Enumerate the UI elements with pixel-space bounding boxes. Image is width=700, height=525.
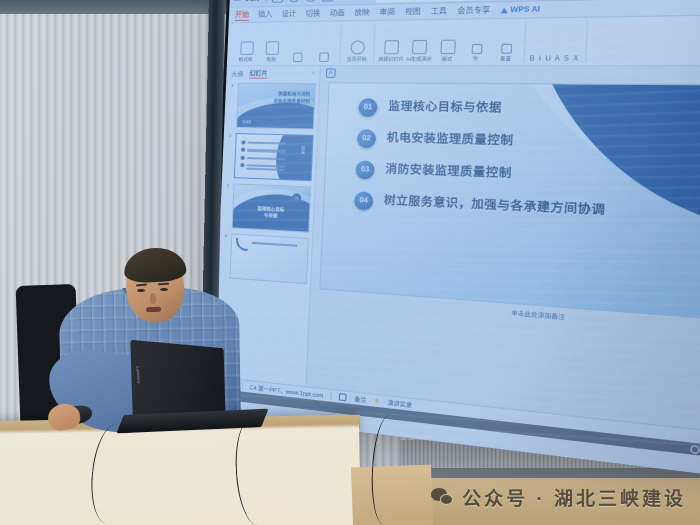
reset-button[interactable]: 重置 [492,44,519,63]
spacer [551,5,700,9]
wps-ai-label: WPS AI [510,5,540,13]
agenda-list: 01 监理核心目标与依据 02 机电安装监理质量控制 03 消防安装监理质量控制 [324,83,700,231]
button-caption: AI生成演示 [406,56,432,63]
format-brush-icon [240,41,254,54]
menu-icon[interactable] [234,0,241,1]
divider [266,0,268,2]
tab-slideshow[interactable]: 放映 [354,7,370,18]
thumbnail-number: 1 [229,83,236,88]
layout-button[interactable]: 版式 [434,40,460,63]
agenda-item[interactable]: 02 机电安装监理质量控制 [357,129,700,159]
bullet-icon [241,140,245,144]
wechat-icon [431,488,454,507]
layout-icon [440,40,456,54]
search-icon[interactable] [690,444,700,453]
tab-design[interactable]: 设计 [281,9,296,20]
ai-generate-icon [411,40,426,54]
thumb-side-label: 目录 [301,146,307,154]
active-slide[interactable]: 01 监理核心目标与依据 02 机电安装监理质量控制 03 消防安装监理质量控制 [319,82,700,325]
paste-icon [265,41,279,55]
slide-thumbnail-3[interactable]: 01 监理核心目标 与依据 [232,183,312,232]
tab-outline[interactable]: 大纲 [231,69,243,78]
notes-button-label[interactable]: 备注 [354,394,366,404]
display-bezel: 文件 ↶ ↷ ⌄ 房建机电安装监理质量控制… ✕ + [209,0,700,486]
file-menu-label[interactable]: 文件 [246,0,262,3]
thumb-agenda-row [240,163,285,169]
bullet-icon [241,156,245,160]
section-button[interactable]: 节 [463,44,490,63]
button-caption: 当页开始 [346,56,366,63]
eye-right [160,288,168,291]
laptop-brand-logo: Lenovo [136,366,142,384]
watermark-text: 公众号 · 湖北三峡建设 [462,484,686,511]
divider [241,382,242,389]
divider [331,392,332,400]
tab-view[interactable]: 视图 [405,6,421,17]
slide-canvas-area: A 01 监理核心目标与依据 02 机 [306,66,700,440]
mouth [146,307,161,313]
decorative-shape [236,238,249,251]
list-item[interactable]: 4 [221,233,309,284]
agenda-number-badge: 02 [357,129,376,148]
slide-thumbnail-2[interactable]: 目录 [234,133,314,181]
wps-ai-button[interactable]: WPS AI [501,5,541,14]
watermark: 公众号 · 湖北三峡建设 [431,484,686,511]
slide-thumbnail-4[interactable] [229,233,309,284]
thumbnail-number: 4 [222,233,229,239]
thumb-agenda-row [241,140,286,145]
ai-sparkle-icon [501,7,508,13]
play-from-current-slide-button[interactable]: 当页开始 [345,40,370,63]
new-slide-icon [384,40,399,54]
thumb-agenda-row [241,148,286,153]
chevron-left-icon[interactable]: ‹ [312,70,314,76]
agenda-number-badge: 01 [358,98,377,117]
save-icon[interactable] [272,0,284,2]
wps-logo-icon: A [326,68,336,78]
print-icon[interactable] [305,0,317,2]
search-icon[interactable] [288,0,300,2]
paste-button[interactable]: 粘贴 [260,41,283,63]
scissors-icon [292,53,302,62]
thumbnail-number: 2 [227,133,234,138]
agenda-item-text: 机电安装监理质量控制 [387,130,514,149]
reset-icon [500,44,511,54]
tab-review[interactable]: 审阅 [379,7,395,18]
editor-workspace: 大纲 幻灯片 ‹ 1 房建机电与消防 [213,66,700,440]
button-caption: 版式 [441,55,452,62]
agenda-item-text: 监理核心目标与依据 [388,99,502,116]
tab-animation[interactable]: 动画 [329,8,344,19]
thumb-agenda-rows [240,140,286,168]
agenda-number-badge: 03 [355,160,374,179]
tab-member-exclusive[interactable]: 会员专享 [457,5,490,17]
ribbon-group-slideshow: 当页开始 [340,23,375,63]
button-caption: 节 [473,55,479,62]
font-format-toolbar[interactable]: B I U A S X [529,56,579,63]
wps-office-window: 文件 ↶ ↷ ⌄ 房建机电安装监理质量控制… ✕ + [212,0,700,485]
agenda-item[interactable]: 01 监理核心目标与依据 [358,98,700,124]
conference-room-photo: 文件 ↶ ↷ ⌄ 房建机电安装监理质量控制… ✕ + [0,0,700,525]
tab-start[interactable]: 开始 [235,9,250,21]
copy-icon [319,52,329,62]
cut-button[interactable] [286,53,309,64]
ribbon-group-font: B I U A S X [525,20,588,63]
thumbnail-list: 1 房建机电与消防 安装监理质量控制 监理部 [217,81,319,287]
agenda-item[interactable]: 03 消防安装监理质量控制 [355,160,700,195]
button-caption: 新建幻灯片 [378,56,404,63]
ribbon-group-clipboard: 格式刷 粘贴 [231,24,342,64]
tab-insert[interactable]: 插入 [258,9,273,20]
tab-tools[interactable]: 工具 [431,6,448,17]
new-slide-button[interactable]: 新建幻灯片 [378,40,403,63]
thumbnail-number: 3 [224,183,231,188]
button-caption: 重置 [500,55,511,62]
thumb-subtitle: 监理部 [242,120,251,124]
panel-tab-strip: 大纲 幻灯片 ‹ [226,66,320,81]
notes-icon[interactable] [339,393,347,401]
thumb-title: 房建机电与消防 安装监理质量控制 [264,91,310,105]
agenda-item-text: 树立服务意识，加强与各承建方间协调 [384,193,606,219]
slide-thumbnail-1[interactable]: 房建机电与消防 安装监理质量控制 监理部 [236,83,316,130]
ribbon-group-slides: 新建幻灯片 AI生成演示 版式 节 [374,21,527,63]
button-caption: 粘贴 [267,56,277,63]
tab-transition[interactable]: 切换 [305,8,320,19]
agenda-number-badge: 04 [354,191,373,210]
list-item[interactable]: 1 房建机电与消防 安装监理质量控制 监理部 [227,83,316,130]
play-icon [350,40,365,54]
presentation-display: 文件 ↶ ↷ ⌄ 房建机电安装监理质量控制… ✕ + [209,0,700,486]
print-preview-icon[interactable] [322,0,334,1]
ribbon-body: 格式刷 粘贴 [227,14,700,66]
bullet-icon [240,163,244,167]
agenda-item-text: 消防安装监理质量控制 [385,161,512,181]
desk-front-panel [0,415,361,525]
format-brush-button[interactable]: 格式刷 [235,41,258,63]
agenda-item[interactable]: 04 树立服务意识，加强与各承建方间协调 [354,191,700,230]
star-icon[interactable]: ★ [374,397,380,405]
list-item[interactable]: 2 目录 [225,133,314,181]
ai-generate-button[interactable]: AI生成演示 [406,40,432,63]
list-item[interactable]: 3 01 监理核心目标 与依据 [223,183,312,233]
thumb-title-line2: 安装监理质量控制 [264,98,310,105]
copy-button[interactable] [312,52,336,63]
section-icon [471,44,482,54]
nose [150,293,156,304]
tab-slides[interactable]: 幻灯片 [249,68,268,78]
eye-left [137,289,145,292]
bullet-icon [241,148,245,152]
button-caption: 格式刷 [239,56,253,63]
thumb-agenda-row [241,156,286,162]
thumb-heading [252,242,297,247]
